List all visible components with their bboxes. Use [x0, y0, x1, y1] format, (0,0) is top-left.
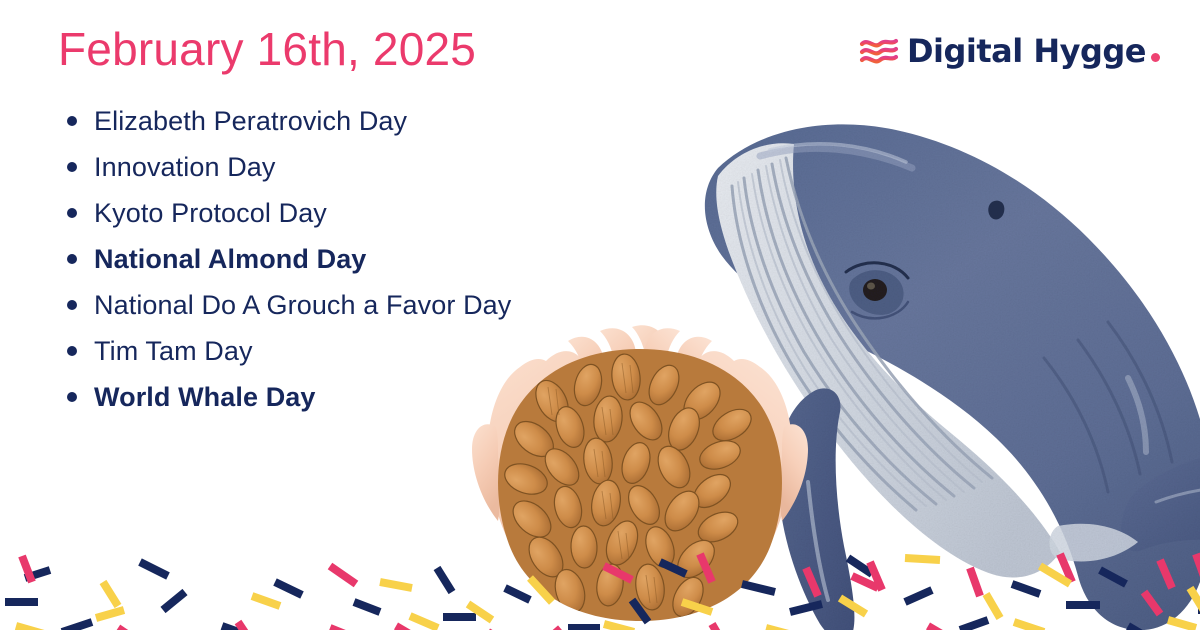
bullet-icon [67, 300, 77, 310]
social-card: Digital Hygge February 16th, 2025 Elizab… [0, 0, 1200, 630]
list-item: National Do A Grouch a Favor Day [62, 282, 702, 328]
bullet-icon [67, 346, 77, 356]
bullet-icon [67, 208, 77, 218]
list-item: Innovation Day [62, 144, 702, 190]
bullet-icon [67, 392, 77, 402]
list-item: Tim Tam Day [62, 328, 702, 374]
list-item: Kyoto Protocol Day [62, 190, 702, 236]
confetti-border [0, 540, 1200, 630]
list-item-label: National Do A Grouch a Favor Day [94, 290, 511, 321]
bullet-icon [67, 162, 77, 172]
list-item: National Almond Day [62, 236, 702, 282]
page-title: February 16th, 2025 [58, 24, 476, 75]
bullet-icon [67, 116, 77, 126]
list-item: World Whale Day [62, 374, 702, 420]
list-item-label: Tim Tam Day [94, 336, 253, 367]
list-item-label: Innovation Day [94, 152, 276, 183]
list-item-label: National Almond Day [94, 244, 366, 275]
list-item-label: Kyoto Protocol Day [94, 198, 327, 229]
brand-dot [1151, 53, 1160, 62]
wave-icon [859, 36, 899, 66]
holiday-list: Elizabeth Peratrovich DayInnovation DayK… [62, 98, 702, 420]
list-item-label: Elizabeth Peratrovich Day [94, 106, 407, 137]
list-item: Elizabeth Peratrovich Day [62, 98, 702, 144]
list-item-label: World Whale Day [94, 382, 316, 413]
brand-name: Digital Hygge [907, 35, 1160, 67]
bullet-icon [67, 254, 77, 264]
whale-illustration [640, 90, 1200, 630]
brand-logo[interactable]: Digital Hygge [859, 30, 1160, 72]
